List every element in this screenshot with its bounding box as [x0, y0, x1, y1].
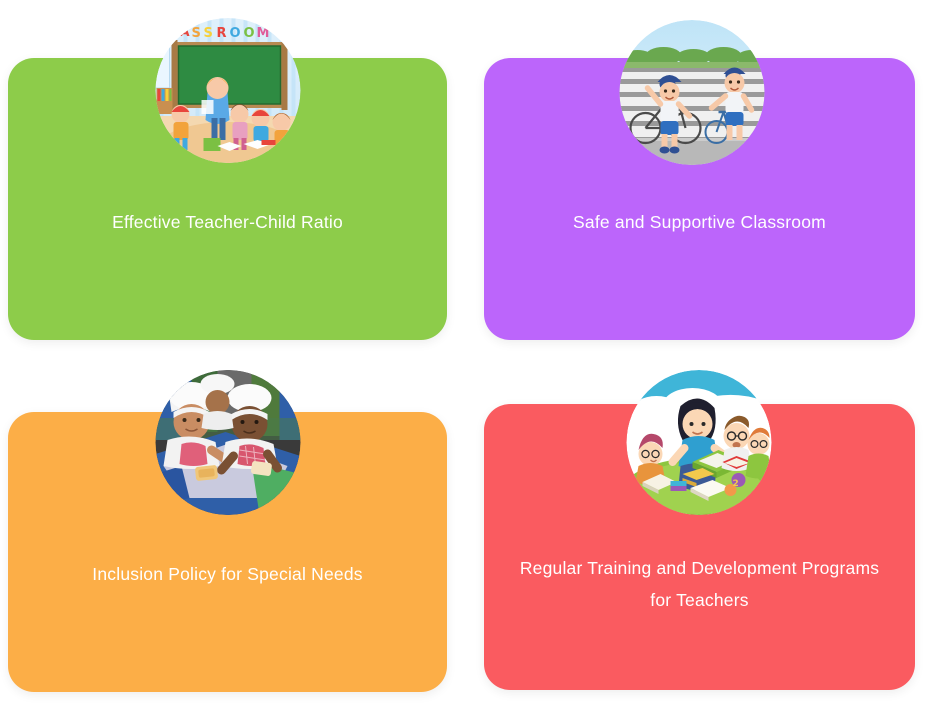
classroom-chalkboard-children-photo: A S S R O O M: [155, 18, 300, 163]
svg-text:O: O: [243, 26, 254, 41]
card-title: Inclusion Policy for Special Needs: [8, 558, 447, 590]
card-title: Safe and Supportive Classroom: [484, 206, 915, 238]
feature-card-regular-training-and-development-programs-for-teachers[interactable]: 2 Regular Training and Development Progr…: [484, 404, 915, 690]
feature-card-effective-teacher-child-ratio[interactable]: A S S R O O M: [8, 58, 447, 340]
svg-text:2: 2: [732, 479, 738, 489]
svg-text:M: M: [256, 26, 269, 41]
svg-text:S: S: [203, 26, 212, 41]
feature-card-inclusion-policy-for-special-needs[interactable]: Inclusion Policy for Special Needs: [8, 412, 447, 692]
card-grid: A S S R O O M: [0, 0, 925, 719]
card-title: Regular Training and Development Program…: [484, 552, 915, 616]
card-title: Effective Teacher-Child Ratio: [8, 206, 447, 238]
svg-text:A: A: [179, 25, 189, 40]
svg-text:R: R: [216, 26, 226, 41]
svg-text:S: S: [191, 26, 200, 41]
teacher-reading-to-children-photo: 2: [626, 370, 771, 515]
children-bicycles-crosswalk-photo: [619, 20, 764, 165]
children-cooking-activity-photo: [155, 370, 300, 515]
svg-text:O: O: [229, 26, 240, 41]
feature-card-safe-and-supportive-classroom[interactable]: Safe and Supportive Classroom: [484, 58, 915, 340]
